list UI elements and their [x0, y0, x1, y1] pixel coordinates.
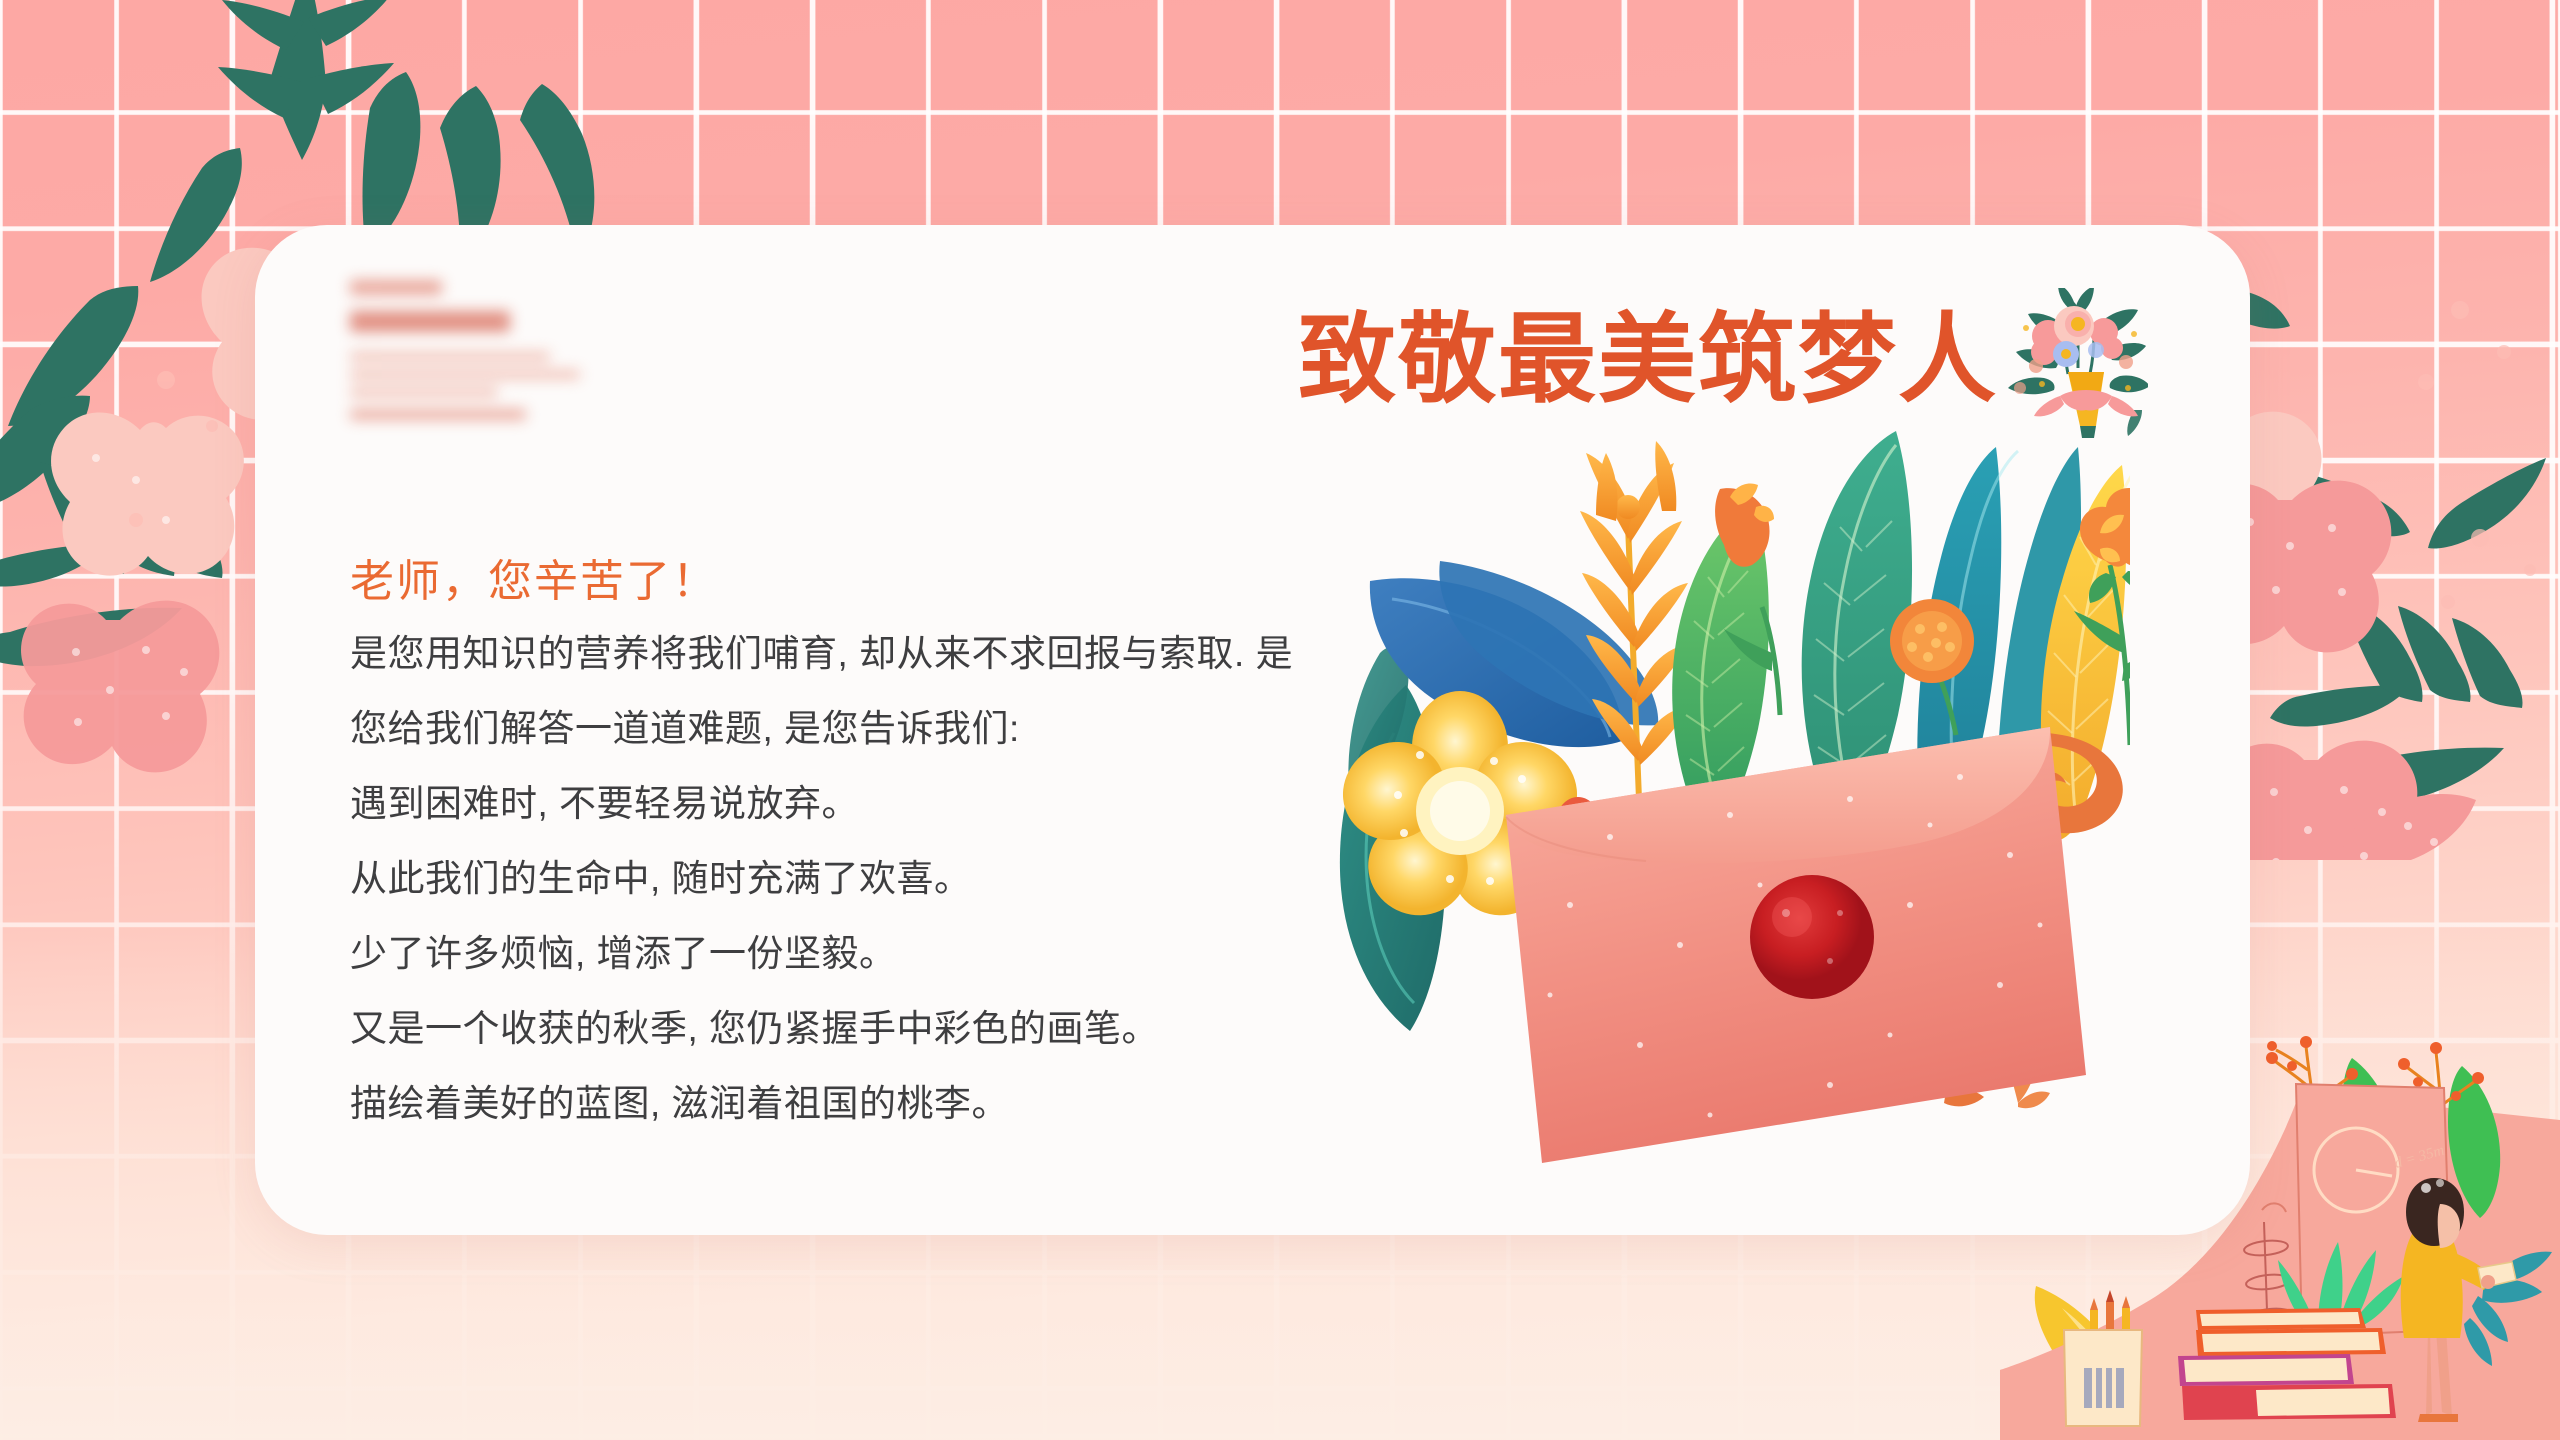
- letter-lines: 是您用知识的营养将我们哺育, 却从来不求回报与索取. 是 您给我们解答一道道难题…: [350, 635, 1360, 1122]
- letter-body: 老师，您辛苦了！ 是您用知识的营养将我们哺育, 却从来不求回报与索取. 是 您给…: [350, 545, 1360, 1160]
- letter-line: 是您用知识的营养将我们哺育, 却从来不求回报与索取. 是: [350, 635, 1360, 672]
- envelope-with-flowers-illustration: [1310, 385, 2130, 1185]
- letter-line: 从此我们的生命中, 随时充满了欢喜。: [350, 860, 1360, 897]
- letter-greeting: 老师，您辛苦了！: [350, 545, 1360, 609]
- letterhead-watermark: [350, 280, 680, 450]
- poster-canvas: d = 35m: [0, 0, 2560, 1440]
- letter-card: 致敬最美筑梦人: [255, 225, 2250, 1235]
- letter-line: 少了许多烦恼, 增添了一份坚毅。: [350, 935, 1360, 972]
- letter-line: 描绘着美好的蓝图, 滋润着祖国的桃李。: [350, 1085, 1360, 1122]
- letter-line: 遇到困难时, 不要轻易说放弃。: [350, 785, 1360, 822]
- letter-line: 您给我们解答一道道难题, 是您告诉我们:: [350, 710, 1360, 747]
- letter-line: 又是一个收获的秋季, 您仍紧握手中彩色的画笔。: [350, 1010, 1360, 1047]
